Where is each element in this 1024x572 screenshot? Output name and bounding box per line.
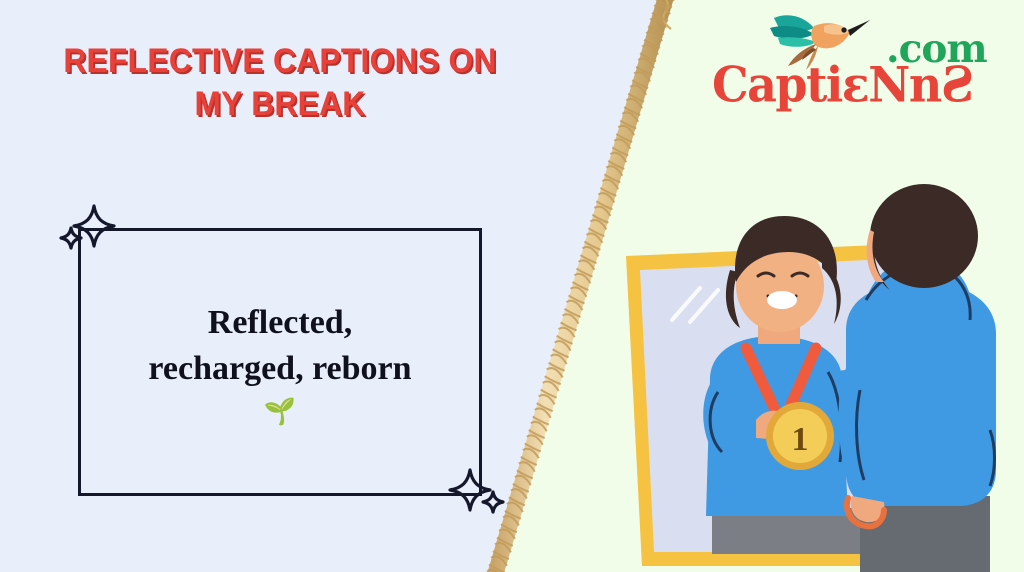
poster-canvas: REFLECTIVE CAPTIONS ON MY BREAK Reflecte… — [0, 0, 1024, 572]
quote-block: Reflected, recharged, reborn 🌱 — [78, 228, 482, 496]
quote-line-2: recharged, reborn — [148, 346, 411, 392]
back-figure — [839, 184, 997, 572]
mirror-illustration: 1 — [560, 0, 1024, 572]
title-line-2: MY BREAK — [20, 83, 541, 126]
quote-line-1: Reflected, — [208, 300, 352, 346]
title-line-1: REFLECTIVE CAPTIONS ON — [20, 40, 541, 83]
page-title: REFLECTIVE CAPTIONS ON MY BREAK — [20, 40, 541, 125]
seedling-emoji: 🌱 — [264, 398, 296, 424]
sparkle-icon-bottom-right — [448, 466, 510, 529]
medal-number: 1 — [792, 421, 809, 458]
sparkle-icon-top-left — [58, 198, 120, 265]
